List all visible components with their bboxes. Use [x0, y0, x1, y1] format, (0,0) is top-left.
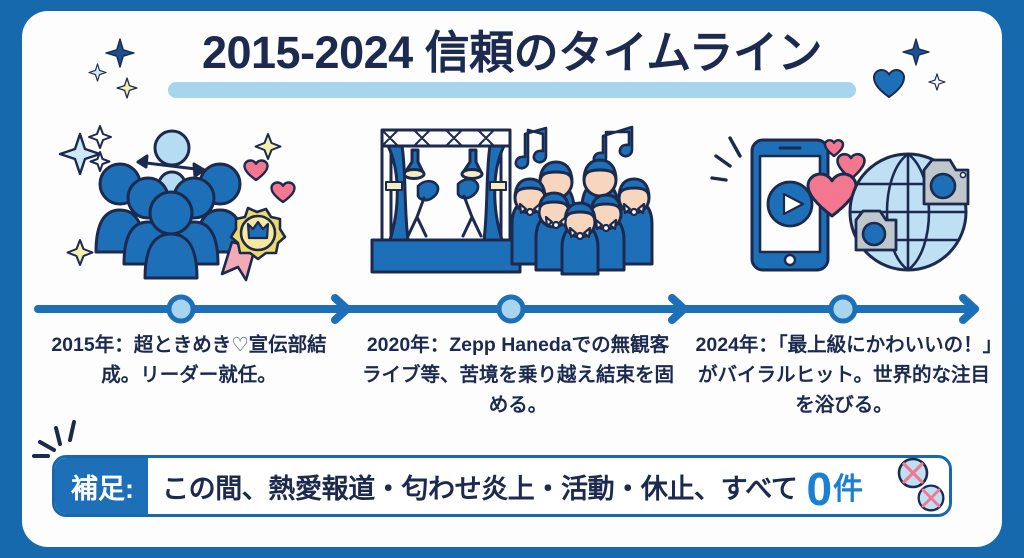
sparkle-dark-icon [105, 38, 135, 68]
milestone-caption-2020: 2020年：Zepp Hanedaでの無観客ライブ等、苦境を乗り越え結束を固める… [362, 330, 674, 420]
timeline-node [499, 297, 523, 321]
title-underline-highlight [168, 82, 856, 98]
timeline-node [169, 297, 193, 321]
note-count: 0 [806, 466, 832, 512]
sparkle-dark-right-icon [902, 38, 930, 66]
group-leader-award-icon [52, 112, 352, 287]
page-title: 2015-2024 信頼のタイムライン [202, 22, 822, 84]
note-body: この間、熱愛報道・匂わせ炎上・活動・休止、すべて 0 件 [148, 458, 949, 514]
note-bar: 補足: この間、熱愛報道・匂わせ炎上・活動・休止、すべて 0 件 [52, 455, 952, 517]
note-text: この間、熱愛報道・匂わせ炎上・活動・休止、すべて [162, 467, 797, 506]
phone-heart-globe-icon [700, 112, 1000, 287]
note-unit: 件 [833, 464, 862, 508]
milestone-caption-2015: 2015年：超ときめき♡宣伝部結成。リーダー就任。 [34, 330, 344, 390]
sparkle-yellow-icon [116, 77, 138, 99]
title-section: 2015-2024 信頼のタイムライン [0, 22, 1024, 84]
no-entry-icon-small [916, 483, 946, 518]
timeline-axis [0, 292, 1024, 326]
note-label: 補足: [55, 458, 148, 514]
sparkle-light-icon [88, 63, 107, 82]
sparkle-small-right-icon [928, 73, 946, 91]
timeline-node [831, 297, 855, 321]
stage-idol-group-icon [360, 112, 660, 287]
timeline-captions: 2015年：超ときめき♡宣伝部結成。リーダー就任。 2020年：Zepp Han… [0, 330, 1024, 430]
heart-blue-icon [872, 68, 906, 99]
milestone-caption-2024: 2024年：「最上級にかわいいの！」がバイラルヒット。世界的な注目を浴びる。 [694, 330, 994, 420]
infographic-root: 2015-2024 信頼のタイムライン [0, 0, 1024, 558]
